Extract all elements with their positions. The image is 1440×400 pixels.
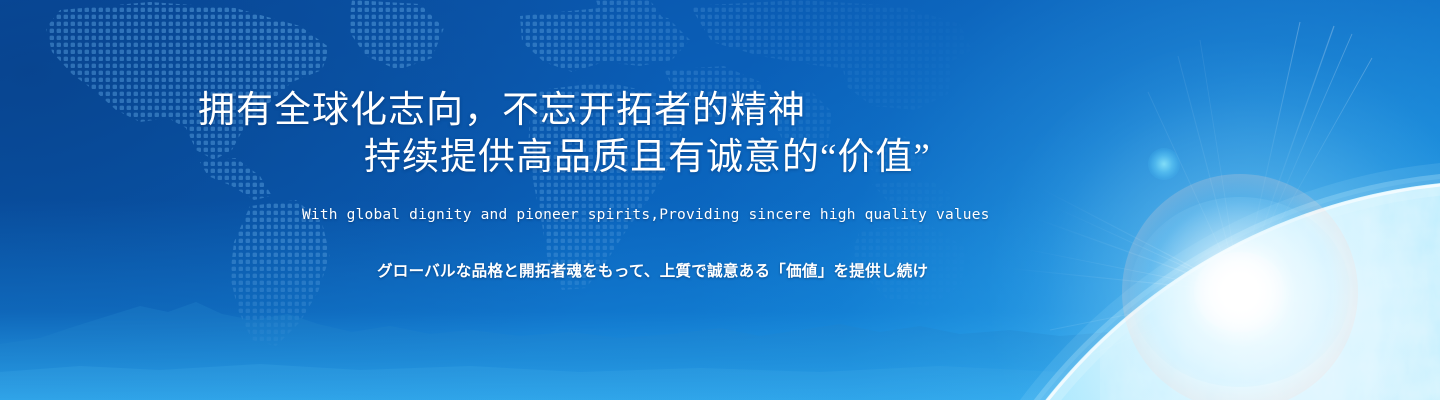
headline-chinese-line-2: 持续提供高品质且有诚意的“价值” <box>364 139 931 176</box>
hero-banner: 拥有全球化志向，不忘开拓者的精神 持续提供高品质且有诚意的“价值” With g… <box>0 0 1440 400</box>
lens-flare-orb <box>1148 148 1180 180</box>
subtitle-english: With global dignity and pioneer spirits,… <box>302 207 990 223</box>
headline-chinese-line-1: 拥有全球化志向，不忘开拓者的精神 <box>198 92 806 129</box>
sun-core <box>1194 252 1286 332</box>
subtitle-japanese: グローバルな品格と開拓者魂をもって、上質で誠意ある「価値」を提供し続け <box>377 259 928 281</box>
banner-text-block: 拥有全球化志向，不忘开拓者的精神 持续提供高品质且有诚意的“价值” With g… <box>0 0 1000 400</box>
